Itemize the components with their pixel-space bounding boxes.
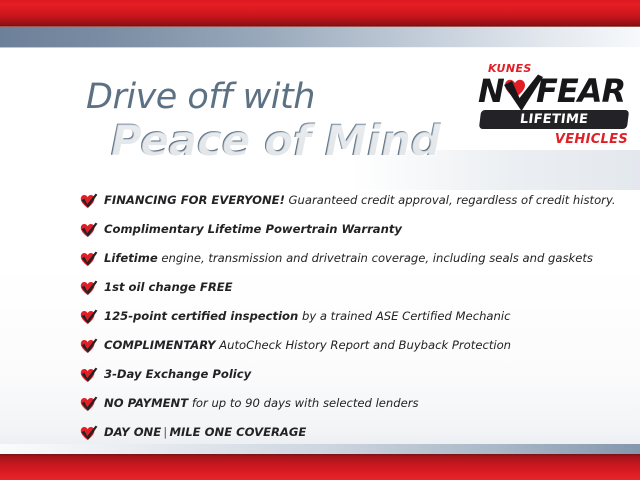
- list-item-bold: NO PAYMENT: [104, 396, 188, 410]
- list-item: Lifetime engine, transmission and drivet…: [80, 250, 580, 272]
- list-item-text: NO PAYMENT for up to 90 days with select…: [104, 395, 580, 411]
- list-item-rest: Guaranteed credit approval, regardless o…: [285, 193, 616, 207]
- list-item-bold: COMPLIMENTARY: [104, 338, 216, 352]
- heart-check-icon: [80, 251, 98, 267]
- list-item: COMPLIMENTARY AutoCheck History Report a…: [80, 337, 580, 359]
- heart-check-icon: [80, 222, 98, 238]
- list-item-bold: 3-Day Exchange Policy: [104, 367, 251, 381]
- list-item-rest: by a trained ASE Certified Mechanic: [298, 309, 510, 323]
- heart-check-icon: [80, 309, 98, 325]
- list-item-text: COMPLIMENTARY AutoCheck History Report a…: [104, 337, 580, 353]
- list-item-rest: for up to 90 days with selected lenders: [188, 396, 418, 410]
- heart-check-icon: [80, 338, 98, 354]
- list-item-bold: 125-point certified inspection: [104, 309, 298, 323]
- list-item-text: Lifetime engine, transmission and drivet…: [104, 250, 580, 266]
- list-item: FINANCING FOR EVERYONE! Guaranteed credi…: [80, 192, 580, 214]
- list-item-bold-b: MILE ONE COVERAGE: [169, 425, 306, 439]
- logo-wordmark: N FEAR: [478, 74, 630, 108]
- list-item: 3-Day Exchange Policy: [80, 366, 580, 388]
- list-item: 125-point certified inspection by a trai…: [80, 308, 580, 330]
- heart-check-icon: [80, 425, 98, 441]
- bottom-gray-band: [0, 444, 640, 454]
- top-gray-band: [0, 26, 640, 49]
- heart-check-icon: [80, 280, 98, 296]
- list-item-bold: Lifetime: [104, 251, 158, 265]
- benefits-list: FINANCING FOR EVERYONE! Guaranteed credi…: [80, 192, 580, 465]
- list-item-text: 3-Day Exchange Policy: [104, 366, 580, 382]
- list-item-rest: AutoCheck History Report and Buyback Pro…: [216, 338, 512, 352]
- list-item-rest: engine, transmission and drivetrain cove…: [158, 251, 593, 265]
- list-item: 1st oil change FREE: [80, 279, 580, 301]
- list-item-bold: FINANCING FOR EVERYONE!: [104, 193, 285, 207]
- top-red-band: [0, 0, 640, 26]
- logo-vehicles-text: VEHICLES: [555, 132, 628, 147]
- heart-check-icon: [80, 193, 98, 209]
- list-item-bold: 1st oil change FREE: [104, 280, 233, 294]
- list-item-text: FINANCING FOR EVERYONE! Guaranteed credi…: [104, 192, 580, 208]
- heart-check-icon: [80, 367, 98, 383]
- list-item-bold-a: DAY ONE: [104, 425, 161, 439]
- headline-line-2: Peace of Mind: [110, 118, 466, 164]
- headline-line-1: Drive off with: [86, 78, 466, 116]
- kunes-no-fear-logo: KUNES N FEAR LIFETIME CERTIFIED VEHICLES: [478, 62, 630, 150]
- headline: Drive off with Peace of Mind: [86, 78, 466, 164]
- logo-certified-bar: LIFETIME CERTIFIED: [479, 110, 629, 129]
- bottom-red-band: [0, 454, 640, 480]
- heart-check-icon: [80, 396, 98, 412]
- list-item-text: Complimentary Lifetime Powertrain Warran…: [104, 221, 580, 237]
- list-item: NO PAYMENT for up to 90 days with select…: [80, 395, 580, 417]
- list-item-text: 125-point certified inspection by a trai…: [104, 308, 580, 324]
- logo-word-fear: FEAR: [536, 74, 625, 108]
- list-item-text: 1st oil change FREE: [104, 279, 580, 295]
- promo-poster: Drive off with Peace of Mind KUNES N FEA…: [0, 0, 640, 480]
- logo-letter-n: N: [478, 74, 504, 108]
- list-item-text: DAY ONE|MILE ONE COVERAGE: [104, 424, 580, 440]
- list-item-bold: Complimentary Lifetime Powertrain Warran…: [104, 222, 402, 236]
- list-item: Complimentary Lifetime Powertrain Warran…: [80, 221, 580, 243]
